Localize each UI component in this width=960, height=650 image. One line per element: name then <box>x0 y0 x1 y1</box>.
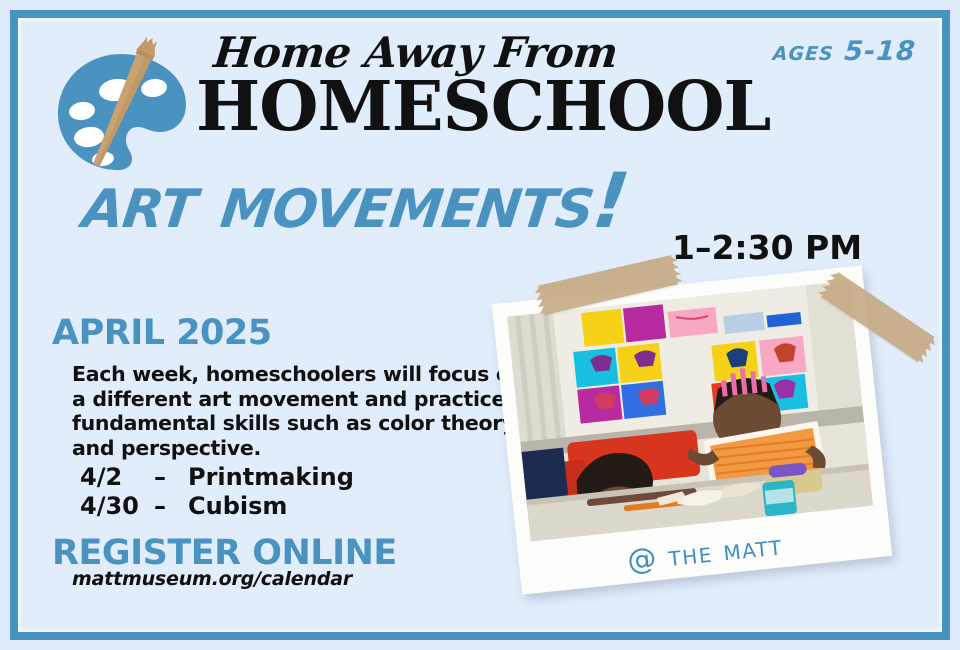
schedule-topic: Printmaking <box>188 463 354 492</box>
schedule-dash: – <box>154 492 188 521</box>
polaroid-frame: @ The MATT <box>492 265 892 594</box>
ages-badge: Ages 5-18 <box>772 36 917 67</box>
register-heading: REGISTER ONLINE <box>52 533 397 573</box>
event-month: APRIL 2025 <box>52 313 272 353</box>
schedule-list: 4/2 – Printmaking 4/30 – Cubism <box>80 463 354 521</box>
event-description: Each week, homeschoolers will focus on a… <box>72 362 542 460</box>
logo-line-homeschool: HOMESCHOOL <box>196 74 916 140</box>
page-title: Art Movements! <box>79 163 632 239</box>
classroom-photo <box>507 281 873 542</box>
schedule-date: 4/2 <box>80 463 154 492</box>
schedule-date: 4/30 <box>80 492 154 521</box>
list-item: 4/30 – Cubism <box>80 492 354 521</box>
poster-content: Home Away From HOMESCHOOL Ages 5-18 Art … <box>0 0 960 650</box>
register-url[interactable]: mattmuseum.org/calendar <box>72 568 352 590</box>
schedule-topic: Cubism <box>188 492 287 521</box>
schedule-dash: – <box>154 463 188 492</box>
poster: Home Away From HOMESCHOOL Ages 5-18 Art … <box>0 0 960 650</box>
event-time: 1–2:30 PM <box>672 228 862 267</box>
photo-polaroid: @ The MATT <box>496 268 916 598</box>
list-item: 4/2 – Printmaking <box>80 463 354 492</box>
